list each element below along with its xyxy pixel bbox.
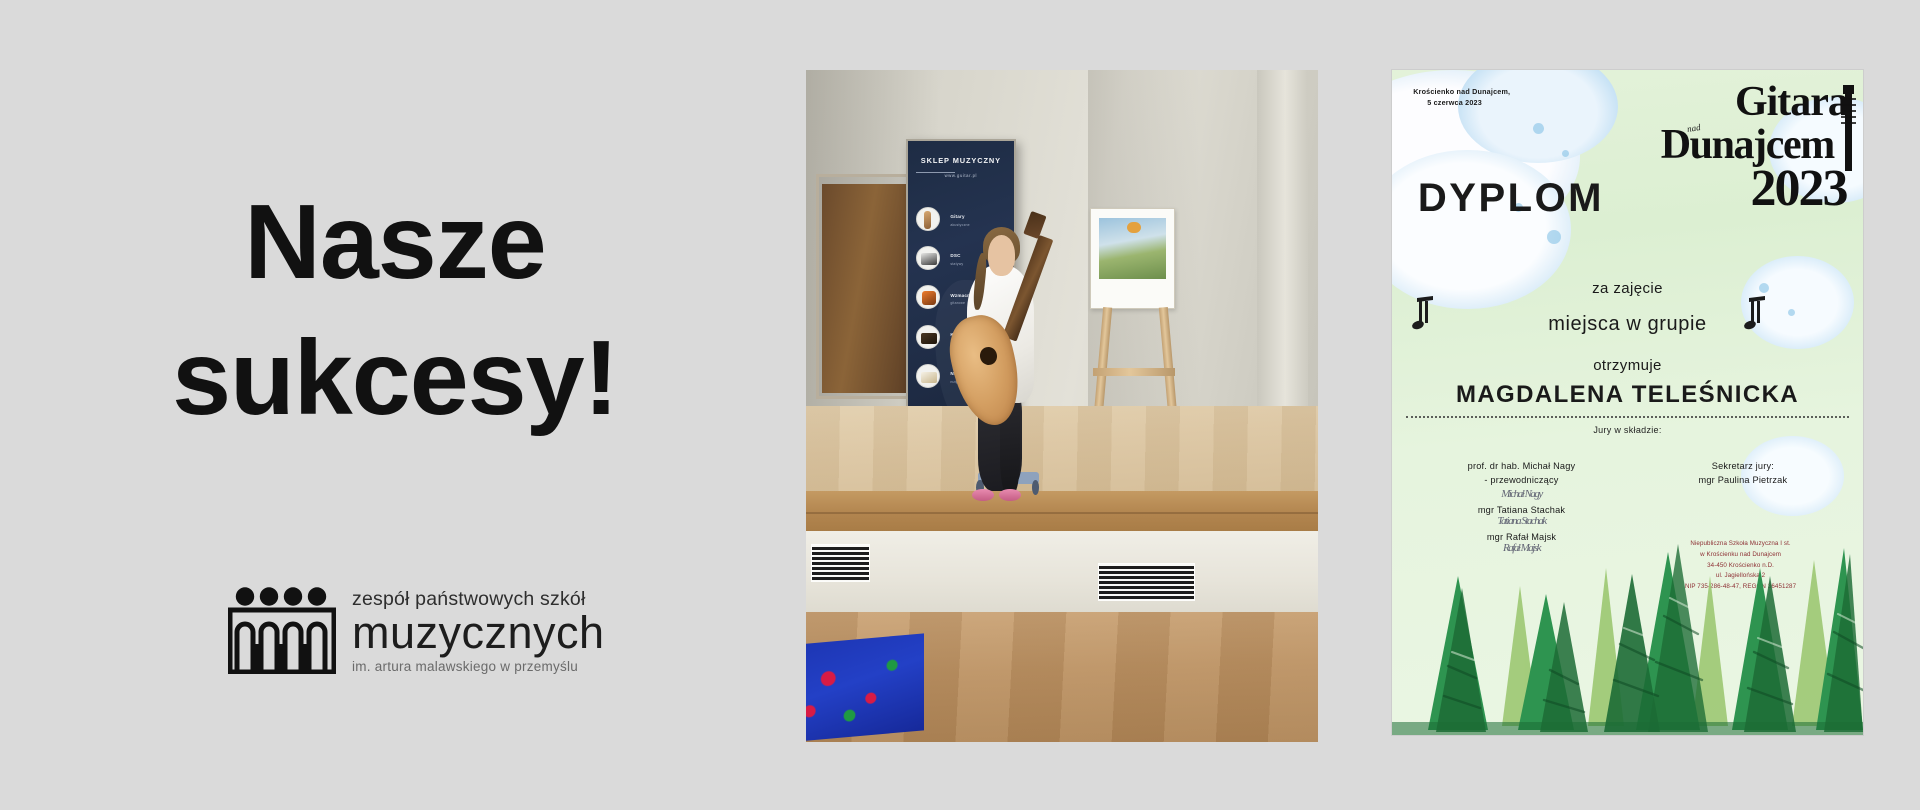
amp-thumb-icon — [916, 285, 940, 309]
banner-product-name: DSC — [950, 253, 960, 258]
banner-product-sub: statywy — [950, 262, 963, 266]
artwork-sun — [1127, 222, 1140, 234]
floral-tablecloth — [806, 633, 924, 742]
banner-product-name: Gitary — [950, 214, 964, 219]
case-thumb-icon — [916, 246, 940, 270]
stage-front-fascia — [806, 491, 1318, 533]
diploma-heading: DYPLOM — [1418, 176, 1604, 221]
page-title: Nasze sukcesy! — [0, 175, 790, 446]
four-figures-ensemble-icon — [228, 586, 336, 674]
banner-url: www.guitar.pl — [914, 173, 1007, 178]
diploma-jury-label: Jury w składzie: — [1392, 425, 1863, 435]
chair-wheel — [1032, 480, 1039, 495]
school-logo: zespół państwowych szkół muzycznych im. … — [228, 586, 605, 674]
sheetmusic-thumb-icon — [916, 364, 940, 388]
guitar-thumb-icon — [916, 207, 940, 231]
headline-line-1: Nasze — [244, 183, 545, 301]
diploma-name-rule — [1406, 416, 1849, 418]
banner-product-sub: gitarowe — [950, 301, 965, 305]
wall-pillar — [1257, 70, 1308, 460]
watercolor-dot — [1562, 150, 1569, 157]
easel-artwork — [1090, 208, 1174, 309]
ventilation-grille-left — [811, 544, 870, 582]
stage-riser-wall — [806, 531, 1318, 613]
diploma-body-line-2: miejsca w grupie — [1392, 313, 1863, 336]
logo-line-3: im. artura malawskiego w przemyślu — [352, 659, 605, 674]
concert-photo: SKLEP MUZYCZNY www.guitar.pl Gitary akus… — [806, 70, 1318, 742]
ventilation-grille-right — [1098, 563, 1195, 601]
diploma-body-line-1: za zajęcie — [1392, 280, 1863, 297]
easel-crossbar-upper — [1093, 368, 1175, 376]
wooden-door — [822, 184, 909, 392]
music-note-icon-right — [1743, 295, 1769, 331]
left-text-panel: Nasze sukcesy! zespół państwowych szkół — [0, 0, 800, 810]
guitar-headstock-icon — [1840, 83, 1857, 179]
diploma-certificate: Krościenko nad Dunajcem, 5 czerwca 2023 … — [1392, 70, 1863, 735]
banner-product-sub: akustyczne — [950, 223, 970, 227]
diploma-location-line-2: 5 czerwca 2023 — [1413, 97, 1510, 109]
banner-title: SKLEP MUZYCZNY — [914, 156, 1007, 165]
spruce-forest-illustration — [1392, 456, 1863, 735]
slide-canvas: Nasze sukcesy! zespół państwowych szkół — [0, 0, 1920, 810]
diploma-location-line-1: Krościenko nad Dunajcem, — [1413, 87, 1510, 96]
diploma-recipient-name: MAGDALENA TELEŚNICKA — [1392, 381, 1863, 409]
performer-head — [988, 235, 1016, 275]
diploma-location: Krościenko nad Dunajcem, 5 czerwca 2023 — [1413, 86, 1510, 109]
festival-title-word-1: Gitara — [1735, 83, 1848, 123]
watercolor-forest — [1392, 456, 1863, 735]
watercolor-dot — [1547, 230, 1561, 244]
stage-platform-top — [806, 406, 1318, 497]
headline-line-2: sukcesy! — [0, 311, 790, 447]
festival-year: 2023 — [1751, 164, 1847, 213]
music-note-icon-left — [1411, 295, 1437, 331]
logo-line-2: muzycznych — [352, 609, 605, 656]
pedal-thumb-icon — [916, 325, 940, 349]
diploma-body-line-3: otrzymuje — [1392, 357, 1863, 374]
